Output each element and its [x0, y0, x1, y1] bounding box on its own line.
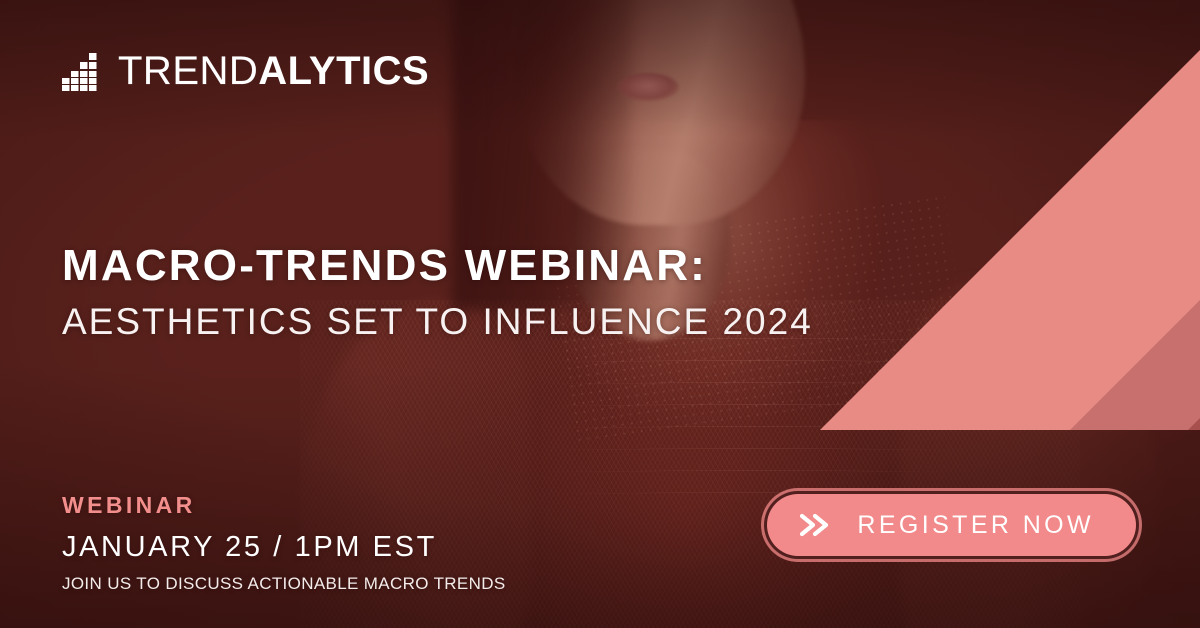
- bar-chart-logo-mark-icon: [62, 50, 104, 92]
- event-info-block: WEBINAR JANUARY 25 / 1PM EST JOIN US TO …: [62, 494, 506, 592]
- event-type-label: WEBINAR: [62, 494, 506, 517]
- brand-wordmark-bold: ALYTICS: [258, 51, 429, 91]
- event-description: JOIN US TO DISCUSS ACTIONABLE MACRO TREN…: [62, 575, 506, 592]
- brand-logo[interactable]: TRENDALYTICS: [62, 50, 429, 92]
- headline-secondary: AESTHETICS SET TO INFLUENCE 2024: [62, 303, 813, 342]
- double-chevron-right-icon: [797, 510, 831, 540]
- register-now-button[interactable]: REGISTER NOW: [767, 494, 1136, 556]
- webinar-promo-banner: TRENDALYTICS MACRO-TRENDS WEBINAR: AESTH…: [0, 0, 1200, 628]
- headline-block: MACRO-TRENDS WEBINAR: AESTHETICS SET TO …: [62, 243, 813, 342]
- event-date-time: JANUARY 25 / 1PM EST: [62, 533, 506, 562]
- headline-primary: MACRO-TRENDS WEBINAR:: [62, 243, 813, 289]
- brand-wordmark: TRENDALYTICS: [118, 51, 429, 91]
- brand-wordmark-light: TREND: [118, 51, 258, 91]
- register-now-label: REGISTER NOW: [857, 513, 1094, 538]
- cta-container: REGISTER NOW: [767, 494, 1136, 556]
